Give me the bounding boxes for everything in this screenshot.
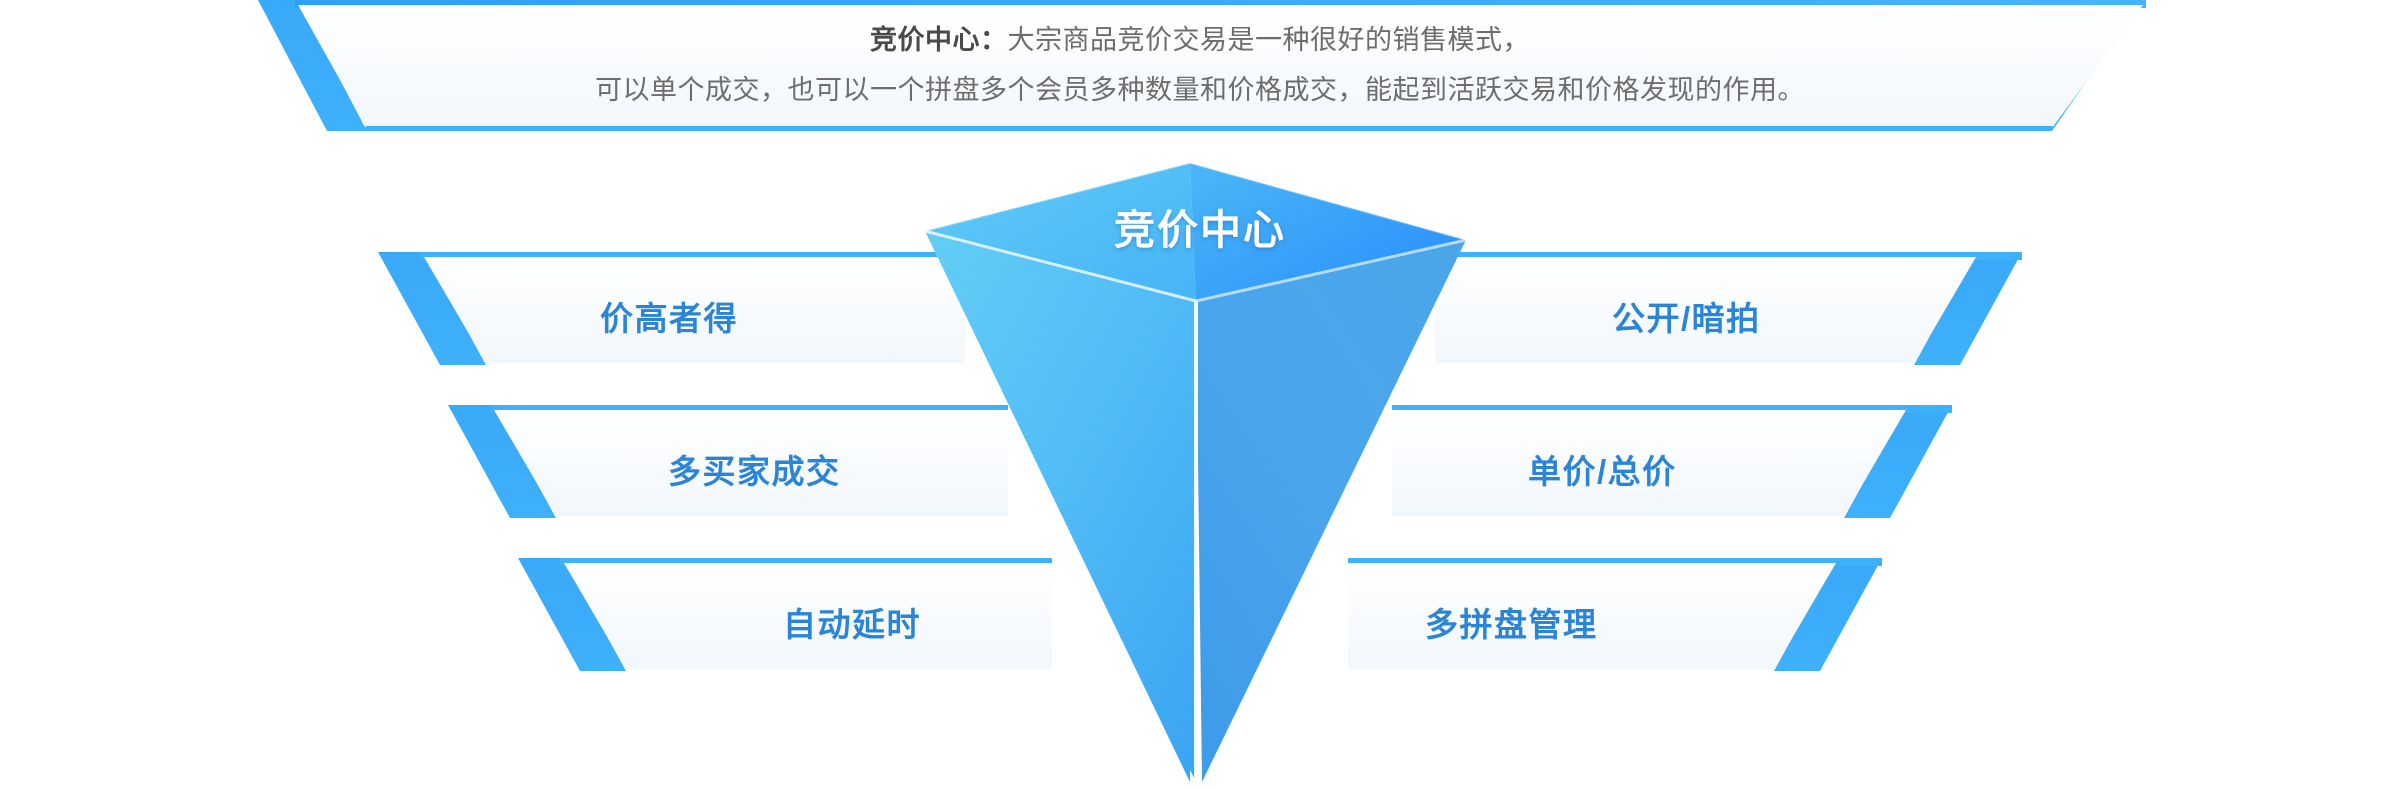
feature-bars-right — [1348, 252, 2022, 671]
feature-bars-left — [378, 252, 1052, 671]
feature-bar-right-2[interactable] — [1392, 405, 1952, 518]
bar-body — [1392, 410, 1906, 516]
bar-body — [564, 563, 1052, 669]
infographic-canvas: 竞价中心：大宗商品竞价交易是一种很好的销售模式， 可以单个成交，也可以一个拼盘多… — [0, 0, 2400, 790]
banner-body — [298, 5, 2143, 128]
feature-bar-left-2[interactable] — [448, 405, 1008, 518]
feature-bar-left-1[interactable] — [378, 252, 965, 365]
bar-body — [1435, 257, 1976, 363]
banner-bottom-rule — [363, 126, 2053, 131]
bar-body — [424, 257, 965, 363]
feature-bar-left-3[interactable] — [518, 558, 1052, 671]
bar-body — [494, 410, 1008, 516]
feature-bar-right-3[interactable] — [1348, 558, 1882, 671]
funnel-graphic — [0, 0, 2400, 790]
feature-bar-right-1[interactable] — [1435, 252, 2022, 365]
description-banner — [258, 0, 2146, 131]
bar-body — [1348, 563, 1836, 669]
